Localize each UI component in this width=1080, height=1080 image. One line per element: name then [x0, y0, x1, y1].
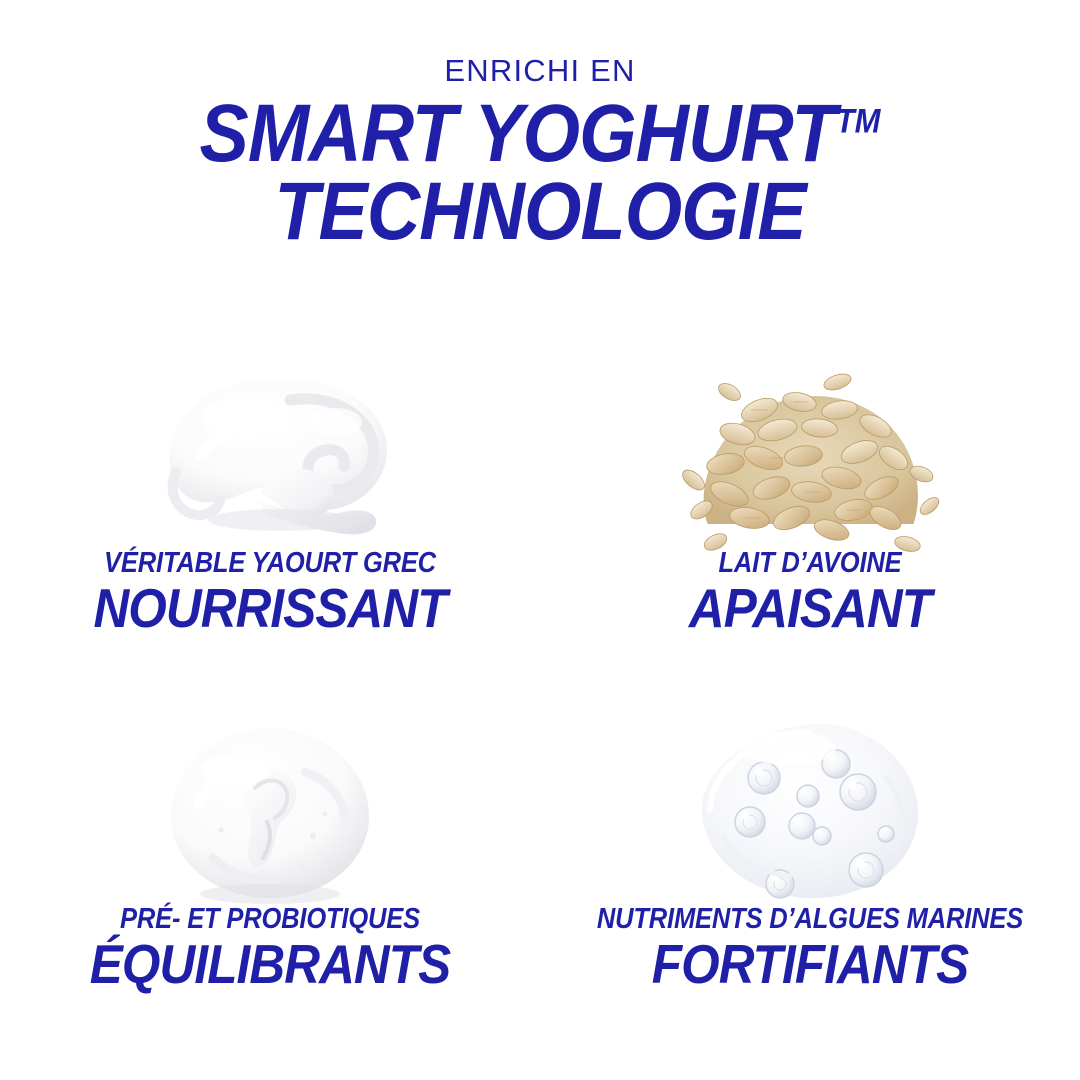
- oat-flakes-icon: [668, 358, 953, 558]
- yoghurt-swirl-icon: [140, 360, 400, 560]
- cream-dollop-icon: [155, 718, 385, 908]
- caption-group: PRÉ- ET PROBIOTIQUES ÉQUILIBRANTS: [0, 904, 540, 992]
- caption-group: LAIT D’AVOINE APAISANT: [540, 548, 1080, 636]
- ingredient-label: NUTRIMENTS D’ALGUES MARINES: [572, 904, 1047, 934]
- benefit-label: FORTIFIANTS: [567, 937, 1053, 992]
- caption-group: VÉRITABLE YAOURT GREC NOURRISSANT: [0, 548, 540, 636]
- eyebrow-text: ENRICHI EN: [0, 54, 1080, 88]
- gel-blob-icon: [690, 718, 930, 903]
- headline-line-2: TECHNOLOGIE: [54, 174, 1026, 249]
- benefit-cell-pre-probiotics: PRÉ- ET PROBIOTIQUES ÉQUILIBRANTS: [0, 690, 540, 1040]
- ingredient-label: LAIT D’AVOINE: [572, 548, 1047, 578]
- benefit-cell-greek-yoghurt: VÉRITABLE YAOURT GREC NOURRISSANT: [0, 340, 540, 690]
- benefits-grid: VÉRITABLE YAOURT GREC NOURRISSANT: [0, 340, 1080, 1040]
- header: ENRICHI EN SMART YOGHURTTM TECHNOLOGIE: [0, 54, 1080, 249]
- infographic-canvas: ENRICHI EN SMART YOGHURTTM TECHNOLOGIE: [0, 0, 1080, 1080]
- ingredient-label: PRÉ- ET PROBIOTIQUES: [32, 904, 507, 934]
- caption-group: NUTRIMENTS D’ALGUES MARINES FORTIFIANTS: [540, 904, 1080, 992]
- headline-line-1: SMART YOGHURTTM: [54, 96, 1026, 171]
- benefit-cell-oat-milk: LAIT D’AVOINE APAISANT: [540, 340, 1080, 690]
- ingredient-label: VÉRITABLE YAOURT GREC: [32, 548, 507, 578]
- benefit-label: NOURRISSANT: [27, 581, 513, 636]
- benefit-label: ÉQUILIBRANTS: [27, 937, 513, 992]
- benefit-cell-seaweed-nutrients: NUTRIMENTS D’ALGUES MARINES FORTIFIANTS: [540, 690, 1080, 1040]
- benefit-label: APAISANT: [567, 581, 1053, 636]
- page-title: SMART YOGHURTTM TECHNOLOGIE: [0, 96, 1080, 249]
- trademark-symbol: TM: [836, 103, 881, 141]
